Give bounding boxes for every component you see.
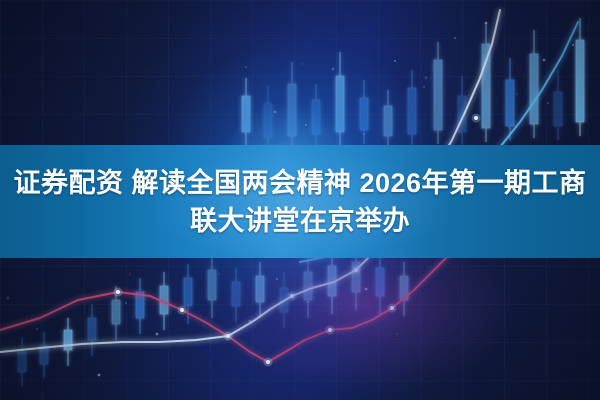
chart-node: [472, 114, 481, 123]
sparkle-dot: [394, 60, 396, 62]
sparkle-dot: [396, 333, 398, 335]
chart-node: [224, 332, 233, 341]
sparkle-dot: [249, 320, 252, 323]
sparkle-dot: [363, 133, 365, 135]
candlestick: [288, 62, 296, 148]
headline-line-1: 证券配资 解读全国两会精神 2026年第一期工商: [13, 164, 586, 202]
candlestick: [400, 262, 408, 316]
chart-node: [288, 292, 297, 301]
sparkle-dot: [125, 302, 127, 304]
candlestick: [136, 278, 144, 334]
sparkle-dot: [67, 351, 69, 353]
sparkle-dot: [516, 93, 518, 95]
headline-line-2: 联大讲堂在京举办: [190, 202, 410, 240]
chart-node: [114, 288, 123, 297]
sparkle-dot: [332, 68, 335, 71]
chart-node: [388, 304, 397, 313]
candlestick: [264, 86, 272, 150]
candlestick: [232, 268, 240, 322]
sparkle-dot: [454, 37, 456, 39]
sparkle-dot: [572, 44, 574, 46]
chart-node: [326, 326, 335, 335]
candlestick: [256, 262, 264, 318]
sparkle-dot: [485, 22, 488, 25]
headline-band: 证券配资 解读全国两会精神 2026年第一期工商 联大讲堂在京举办: [0, 145, 600, 258]
candlestick: [208, 258, 216, 318]
sparkle-dot: [98, 374, 101, 377]
candlestick: [482, 24, 490, 142]
sparkle-dot: [301, 63, 303, 65]
sparkle-dot: [307, 301, 310, 304]
candlestick: [384, 90, 392, 148]
candlestick: [506, 58, 514, 140]
chart-node: [264, 358, 273, 367]
candlestick: [40, 332, 48, 378]
candlestick: [88, 304, 96, 356]
sparkle-dot: [425, 77, 428, 80]
candlestick: [64, 318, 72, 366]
sparkle-dot: [129, 273, 131, 275]
candlestick: [408, 70, 416, 146]
stock-news-banner: 证券配资 解读全国两会精神 2026年第一期工商 联大讲堂在京举办: [0, 0, 600, 400]
sparkle-dot: [305, 124, 307, 126]
candlestick: [554, 70, 562, 140]
candlestick: [312, 84, 320, 146]
chart-node: [178, 306, 187, 315]
sparkle-dot: [423, 86, 425, 88]
sparkle-dot: [7, 297, 10, 300]
candlestick: [336, 52, 344, 146]
sparkle-dot: [156, 333, 159, 336]
sparkle-dot: [547, 102, 549, 104]
candlestick: [530, 30, 538, 138]
sparkle-dot: [365, 288, 368, 291]
sparkle-dot: [218, 273, 220, 275]
candlestick: [434, 42, 442, 144]
sparkle-dot: [543, 59, 546, 62]
candlestick: [18, 338, 26, 386]
sparkle-dot: [245, 66, 247, 68]
candlestick: [376, 254, 384, 314]
sparkle-dot: [274, 111, 277, 114]
candlestick: [242, 78, 250, 146]
candlestick: [576, 18, 584, 136]
sparkle-dot: [276, 278, 278, 280]
chart-node: [352, 266, 361, 275]
sparkle-dot: [36, 328, 38, 330]
